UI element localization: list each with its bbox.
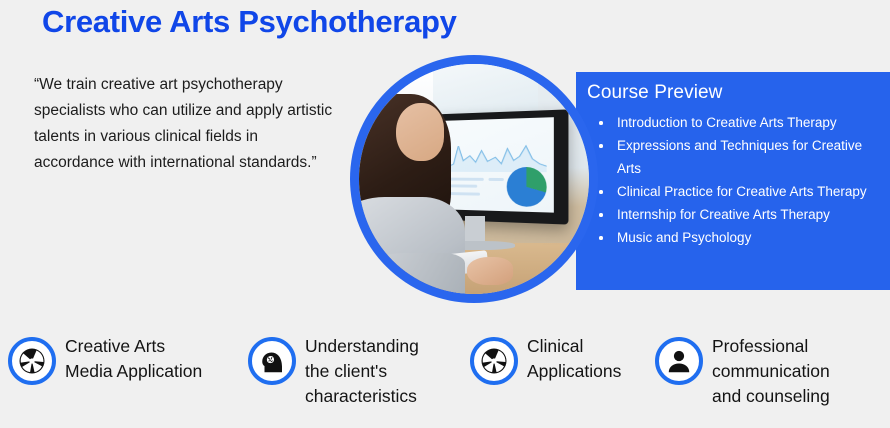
photo-person-face (396, 103, 444, 161)
course-preview-heading: Course Preview (587, 82, 723, 104)
photo-screen-row (489, 178, 505, 181)
feature-item-creative-arts-media-application[interactable]: Creative Arts Media Application (8, 334, 202, 385)
course-list-item: Introduction to Creative Arts Therapy (590, 111, 886, 134)
course-list-item: Internship for Creative Arts Therapy (590, 203, 886, 226)
feature-row: Creative Arts Media Application Understa… (0, 330, 890, 428)
feature-item-clinical-applications[interactable]: Clinical Applications (470, 334, 621, 385)
head-brain-icon (248, 337, 296, 385)
course-list-item: Music and Psychology (590, 226, 886, 249)
photo-screen-pie-chart (507, 167, 547, 207)
photo-person-arm (364, 253, 465, 294)
hero-photo (350, 55, 598, 303)
photo-screen-row (447, 178, 484, 181)
feature-label: Understanding the client's characteristi… (305, 334, 419, 409)
photo-person-hand (467, 257, 513, 285)
course-preview-panel: Course Preview Introduction to Creative … (576, 72, 890, 290)
aperture-icon (470, 337, 518, 385)
aperture-icon (8, 337, 56, 385)
photo-monitor (436, 110, 569, 226)
course-preview-list: Introduction to Creative Arts Therapy Ex… (590, 111, 886, 249)
hero-photo-image (359, 64, 589, 294)
feature-label: Creative Arts Media Application (65, 334, 202, 384)
course-list-item: Clinical Practice for Creative Arts Ther… (590, 180, 886, 203)
feature-item-understanding-the-clients-characteristics[interactable]: Understanding the client's characteristi… (248, 334, 419, 409)
photo-screen-row (447, 192, 481, 196)
photo-monitor-screen (441, 117, 555, 213)
course-list-item: Expressions and Techniques for Creative … (590, 134, 886, 180)
feature-label: Clinical Applications (527, 334, 621, 384)
feature-label: Professional communication and counselin… (712, 334, 830, 409)
person-icon (655, 337, 703, 385)
feature-item-professional-communication-and-counseling[interactable]: Professional communication and counselin… (655, 334, 830, 409)
photo-screen-row (447, 185, 477, 188)
quote-text: “We train creative art psychotherapy spe… (34, 72, 334, 176)
page-title: Creative Arts Psychotherapy (42, 4, 457, 40)
